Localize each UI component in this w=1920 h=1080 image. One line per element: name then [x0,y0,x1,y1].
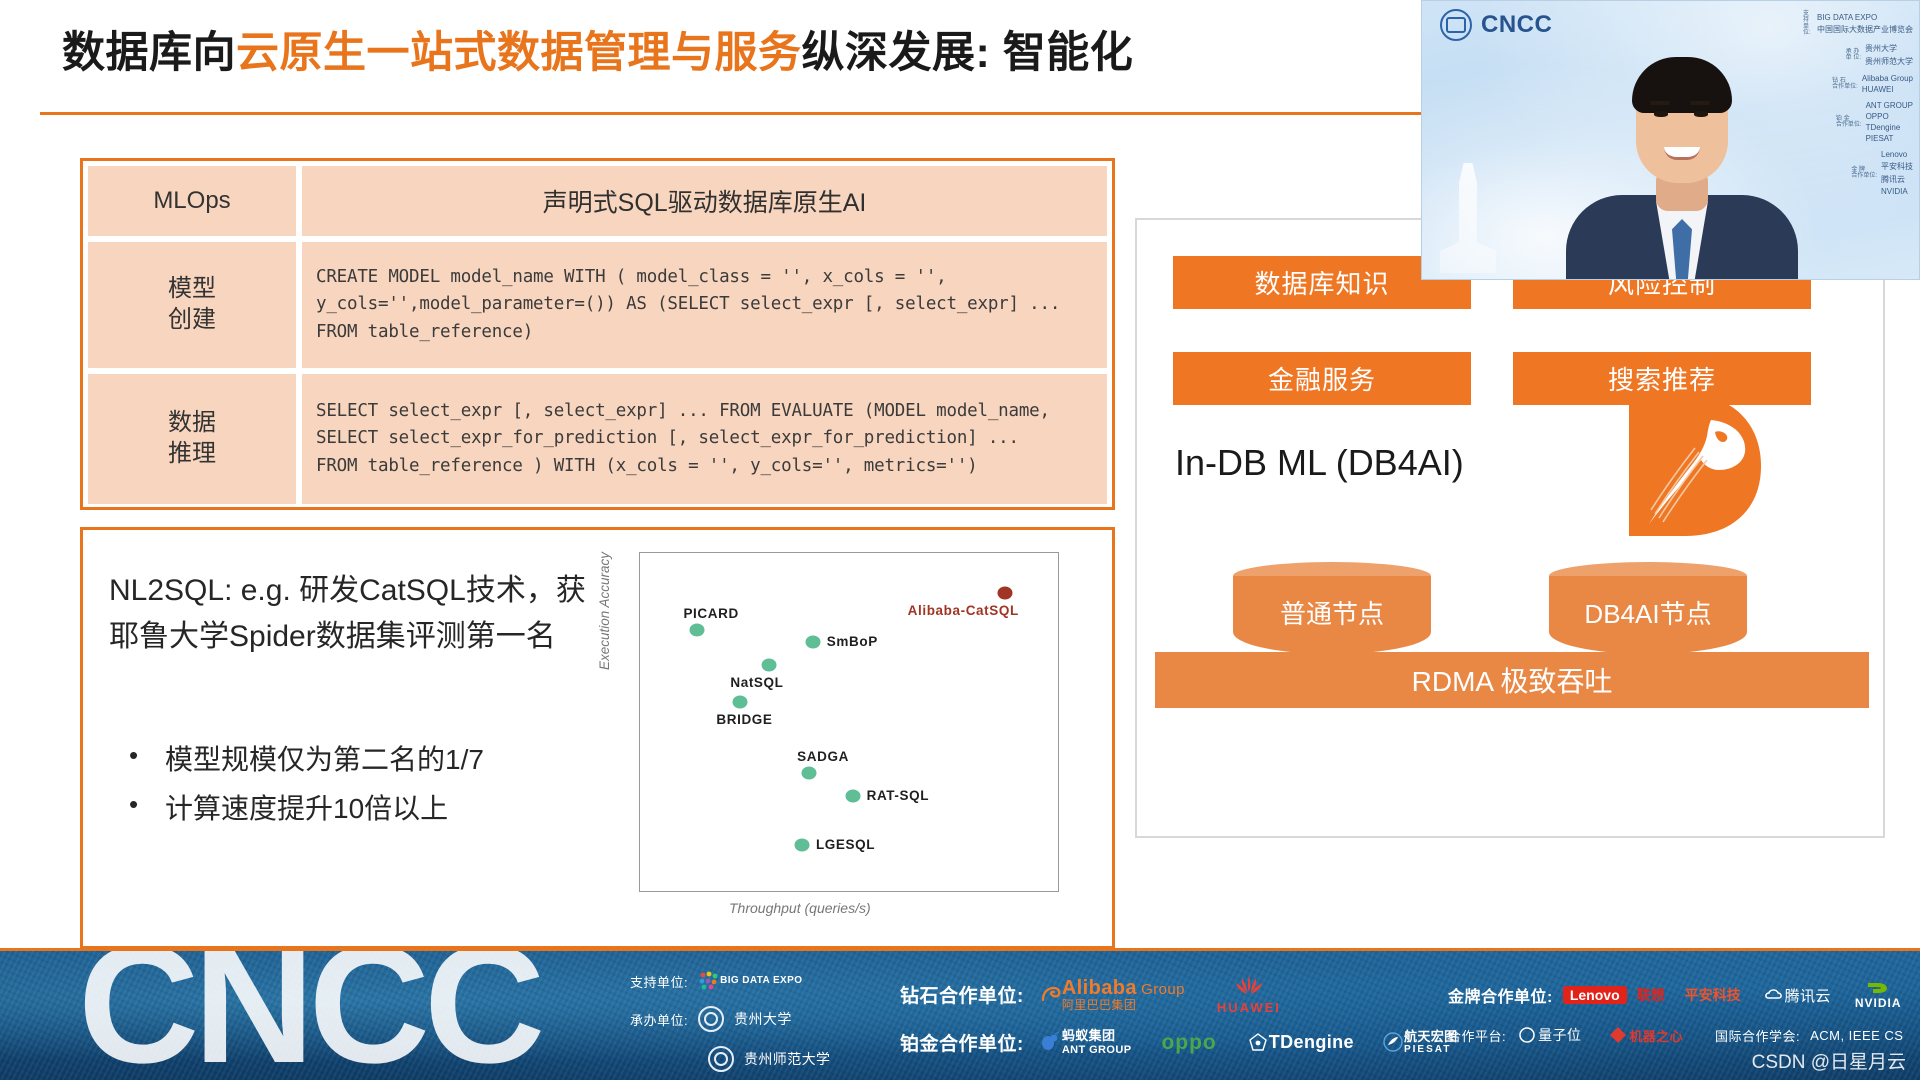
rail-logo-label: 中国国际大数据产业博览会 [1817,24,1913,35]
presenter-brow-right [1690,101,1710,105]
chart-point [733,695,748,708]
node-db4ai-label: DB4AI节点 [1549,600,1747,629]
list-item: 模型规模仅为第二名的1/7 [113,735,603,784]
footer-row-diamond: 钻石合作单位: Alibaba Group 阿里巴巴集团 [900,974,1458,1015]
footer-row-support: 支持单位: BIG DATA EXPO [630,970,830,992]
guizhou-univ-label: 贵州大学 [734,1009,792,1029]
rail-tag-label: 铂 金 合作单位: [1836,116,1862,129]
ant-group-logo: 蚂蚁集团 ANT GROUP [1040,1029,1132,1055]
footer-group-diamond: 钻石合作单位: Alibaba Group 阿里巴巴集团 [900,974,1458,1056]
chart-point-label: LGESQL [816,837,875,852]
piesat-logo: 航天宏图 PIESAT [1382,1030,1458,1055]
jiqizhixin-label: 机器之心 [1629,1026,1683,1045]
nl2sql-panel: NL2SQL: e.g. 研发CatSQL技术，获耶鲁大学Spider数据集评测… [80,527,1115,949]
footer-row-platform: 合作平台: 量子位 机器之心 国际合作学会: ACM, IEEE CS [1448,1024,1903,1046]
chart-point-label: RAT-SQL [867,788,929,803]
presenter-eye-left [1654,111,1668,117]
rail-logo-label: 贵州大学 [1865,43,1913,54]
lenovo-label: Lenovo [1563,986,1627,1004]
tencent-label: 腾讯云 [1785,985,1831,1006]
mlops-table: MLOps 声明式SQL驱动数据库原生AI 模型 创建 CREATE MODEL… [80,158,1115,510]
rail-row: 金 牌 合作单位:Lenovo平安科技腾讯云NVIDIA [1851,150,1913,196]
chart-point [805,635,820,648]
indb-ml-title: In-DB ML (DB4AI) [1175,442,1464,484]
right-panel: 数据库知识 风险控制 金融服务 搜索推荐 In-DB ML (DB4AI) 普通… [1135,218,1885,838]
rail-logo-label: PIESAT [1866,134,1913,143]
footer-group-gold: 金牌合作单位: Lenovo 联想 平安科技 腾讯云 NVIDIA [1448,980,1903,1046]
footer-label-support: 支持单位: [630,972,688,991]
chart-plot-area: PICARDSmBoPNatSQLBRIDGESADGARAT-SQLLGESQ… [639,552,1059,892]
footer-group-support: 支持单位: BIG DATA EXPO 承办单位 [630,970,830,1072]
chart-point-label: Alibaba-CatSQL [908,603,1019,618]
alibaba-logo: Alibaba Group 阿里巴巴集团 [1040,978,1185,1012]
tdengine-label: TDengine [1269,1032,1354,1053]
footer-label-platform: 合作平台: [1448,1026,1506,1045]
bigdata-expo-label: BIG DATA EXPO [720,976,802,987]
row-label-data-inference: 数据 推理 [88,374,296,504]
table-row: 数据 推理 SELECT select_expr [, select_expr]… [88,374,1107,504]
rail-logo-label: NVIDIA [1881,187,1913,196]
lenovo-cn-label: 联想 [1637,985,1665,1005]
presenter-avatar [1584,43,1780,280]
node-normal: 普通节点 [1233,562,1431,654]
footer-row-organizer2: 贵州师范大学 [708,1046,830,1072]
rail-tag-label: 钻 石 合作单位: [1832,78,1858,91]
chart-y-axis-label: Execution Accuracy [597,552,612,670]
tdengine-logo: TDengine [1247,1032,1354,1054]
jiqizhixin-logo: 机器之心 [1607,1024,1683,1046]
rail-logo-label: OPPO [1866,112,1913,121]
rail-logo-label: HUAWEI [1862,85,1913,94]
chart-x-axis-label: Throughput (queries/s) [729,900,871,916]
row-body-mlops: 声明式SQL驱动数据库原生AI [302,166,1107,236]
rail-logo-label: 平安科技 [1881,161,1913,172]
nl2sql-bullet-list: 模型规模仅为第二名的1/7 计算速度提升10倍以上 [113,735,603,833]
huawei-label: HUAWEI [1217,1000,1281,1015]
bigdata-expo-logo: BIG DATA EXPO [698,970,802,992]
chart-point-label: SADGA [797,749,849,764]
slide-root: 数据库向云原生一站式数据管理与服务纵深发展: 智能化 MLOps 声明式SQL驱… [0,0,1920,1080]
rail-tag-label: 承 办 单 位: [1846,49,1861,62]
qbit-logo: 量子位 [1516,1024,1581,1046]
cncc-watermark: CNCC [78,948,539,1080]
alibaba-cn-label: 阿里巴巴集团 [1062,999,1185,1012]
feature-box-finance[interactable]: 金融服务 [1173,352,1471,405]
rail-tag-label: 支 持 单 位: [1803,11,1813,36]
rail-logo-label: Alibaba Group [1862,74,1913,83]
mlops-subtitle: 声明式SQL驱动数据库原生AI [543,183,867,219]
chart-point [997,587,1012,600]
scatter-chart: Execution Accuracy PICARDSmBoPNatSQLBRID… [601,552,1061,924]
qbit-label: 量子位 [1538,1025,1581,1045]
rail-logo-label: Lenovo [1881,150,1913,159]
alibaba-label: Alibaba [1062,977,1137,999]
rdma-bar: RDMA 极致吞吐 [1155,652,1869,708]
chart-point-label: BRIDGE [716,712,772,727]
guizhou-normal-seal-icon [708,1046,734,1072]
chart-point-label: SmBoP [827,634,878,649]
rail-logo-label: 腾讯云 [1881,174,1913,185]
ant-cn-label: 蚂蚁集团 [1062,1029,1132,1043]
guizhou-univ-seal-icon [698,1006,724,1032]
nvidia-logo: NVIDIA [1855,980,1902,1010]
csdn-watermark: CSDN @日星月云 [1752,1047,1906,1074]
pingan-label: 平安科技 [1685,985,1741,1005]
footer-sponsor-bar: CNCC 支持单位: BIG DATA EXPO [0,948,1920,1080]
footer-label-gold: 金牌合作单位: [1448,983,1553,1007]
oppo-label: oppo [1161,1031,1216,1055]
dolphin-db-logo-icon [1615,390,1767,540]
rail-row: 铂 金 合作单位:ANT GROUPOPPOTDenginePIESAT [1836,101,1913,143]
list-item: 计算速度提升10倍以上 [113,784,603,833]
nvidia-label: NVIDIA [1855,996,1902,1010]
chart-point [762,658,777,671]
footer-label-platinum: 铂金合作单位: [900,1029,1024,1056]
ccf-seal-icon [1440,9,1472,41]
video-overlay[interactable]: CNCC 支 持 单 位:BIG DATA EXPO中国国际大数据产业博览会承 … [1421,0,1920,280]
footer-label-intl: 国际合作学会: [1715,1026,1800,1045]
footer-row-gold: 金牌合作单位: Lenovo 联想 平安科技 腾讯云 NVIDIA [1448,980,1903,1010]
acm-ieee-label: ACM, IEEE CS [1810,1028,1903,1043]
rail-row: 钻 石 合作单位:Alibaba GroupHUAWEI [1832,74,1913,94]
nl2sql-heading: NL2SQL: e.g. 研发CatSQL技术，获耶鲁大学Spider数据集评测… [109,568,589,659]
huawei-logo: HUAWEI [1217,974,1281,1015]
footer-label-organizer: 承办单位: [630,1010,688,1029]
presenter-brow-left [1650,101,1670,105]
table-row: MLOps 声明式SQL驱动数据库原生AI [88,166,1107,236]
chart-point [802,767,817,780]
rail-row: 支 持 单 位:BIG DATA EXPO中国国际大数据产业博览会 [1803,11,1913,36]
tencent-cloud-logo: 腾讯云 [1763,984,1831,1006]
cncc-logo-badge: CNCC [1440,9,1552,41]
rail-logo-label: TDengine [1866,123,1913,132]
rail-logo-label: 贵州师范大学 [1865,56,1913,67]
row-body-data-inference: SELECT select_expr [, select_expr] ... F… [302,374,1107,504]
chart-point [794,838,809,851]
alibaba-group-label: Group [1141,981,1185,998]
rail-row: 承 办 单 位:贵州大学贵州师范大学 [1846,43,1913,67]
guizhou-normal-label: 贵州师范大学 [744,1049,830,1069]
sql-create-model: CREATE MODEL model_name WITH ( model_cla… [302,264,1107,346]
rail-logo-label: BIG DATA EXPO [1817,13,1913,22]
sql-data-inference: SELECT select_expr [, select_expr] ... F… [302,398,1107,480]
chart-point [845,790,860,803]
row-body-model-create: CREATE MODEL model_name WITH ( model_cla… [302,242,1107,368]
row-label-mlops: MLOps [88,166,296,236]
chart-point-label: PICARD [683,606,738,621]
footer-label-diamond: 钻石合作单位: [900,981,1024,1008]
rail-logo-label: ANT GROUP [1866,101,1913,110]
presenter-hair [1632,57,1732,113]
chart-point [689,624,704,637]
video-sponsor-rail: 支 持 单 位:BIG DATA EXPO中国国际大数据产业博览会承 办 单 位… [1803,11,1913,261]
left-column: MLOps 声明式SQL驱动数据库原生AI 模型 创建 CREATE MODEL… [0,0,1130,960]
rail-tag-label: 金 牌 合作单位: [1851,167,1877,180]
cncc-logo-label: CNCC [1481,11,1552,39]
ant-en-label: ANT GROUP [1062,1044,1132,1056]
node-normal-label: 普通节点 [1233,600,1431,629]
footer-row-organizer: 承办单位: 贵州大学 [630,1006,830,1032]
node-db4ai: DB4AI节点 [1549,562,1747,654]
footer-row-platinum: 铂金合作单位: 蚂蚁集团 ANT GROUP oppo [900,1029,1458,1056]
chart-point-label: NatSQL [730,675,783,690]
row-label-model-create: 模型 创建 [88,242,296,368]
presenter-eye-right [1694,111,1708,117]
table-row: 模型 创建 CREATE MODEL model_name WITH ( mod… [88,242,1107,368]
footer-divider [0,948,1920,951]
